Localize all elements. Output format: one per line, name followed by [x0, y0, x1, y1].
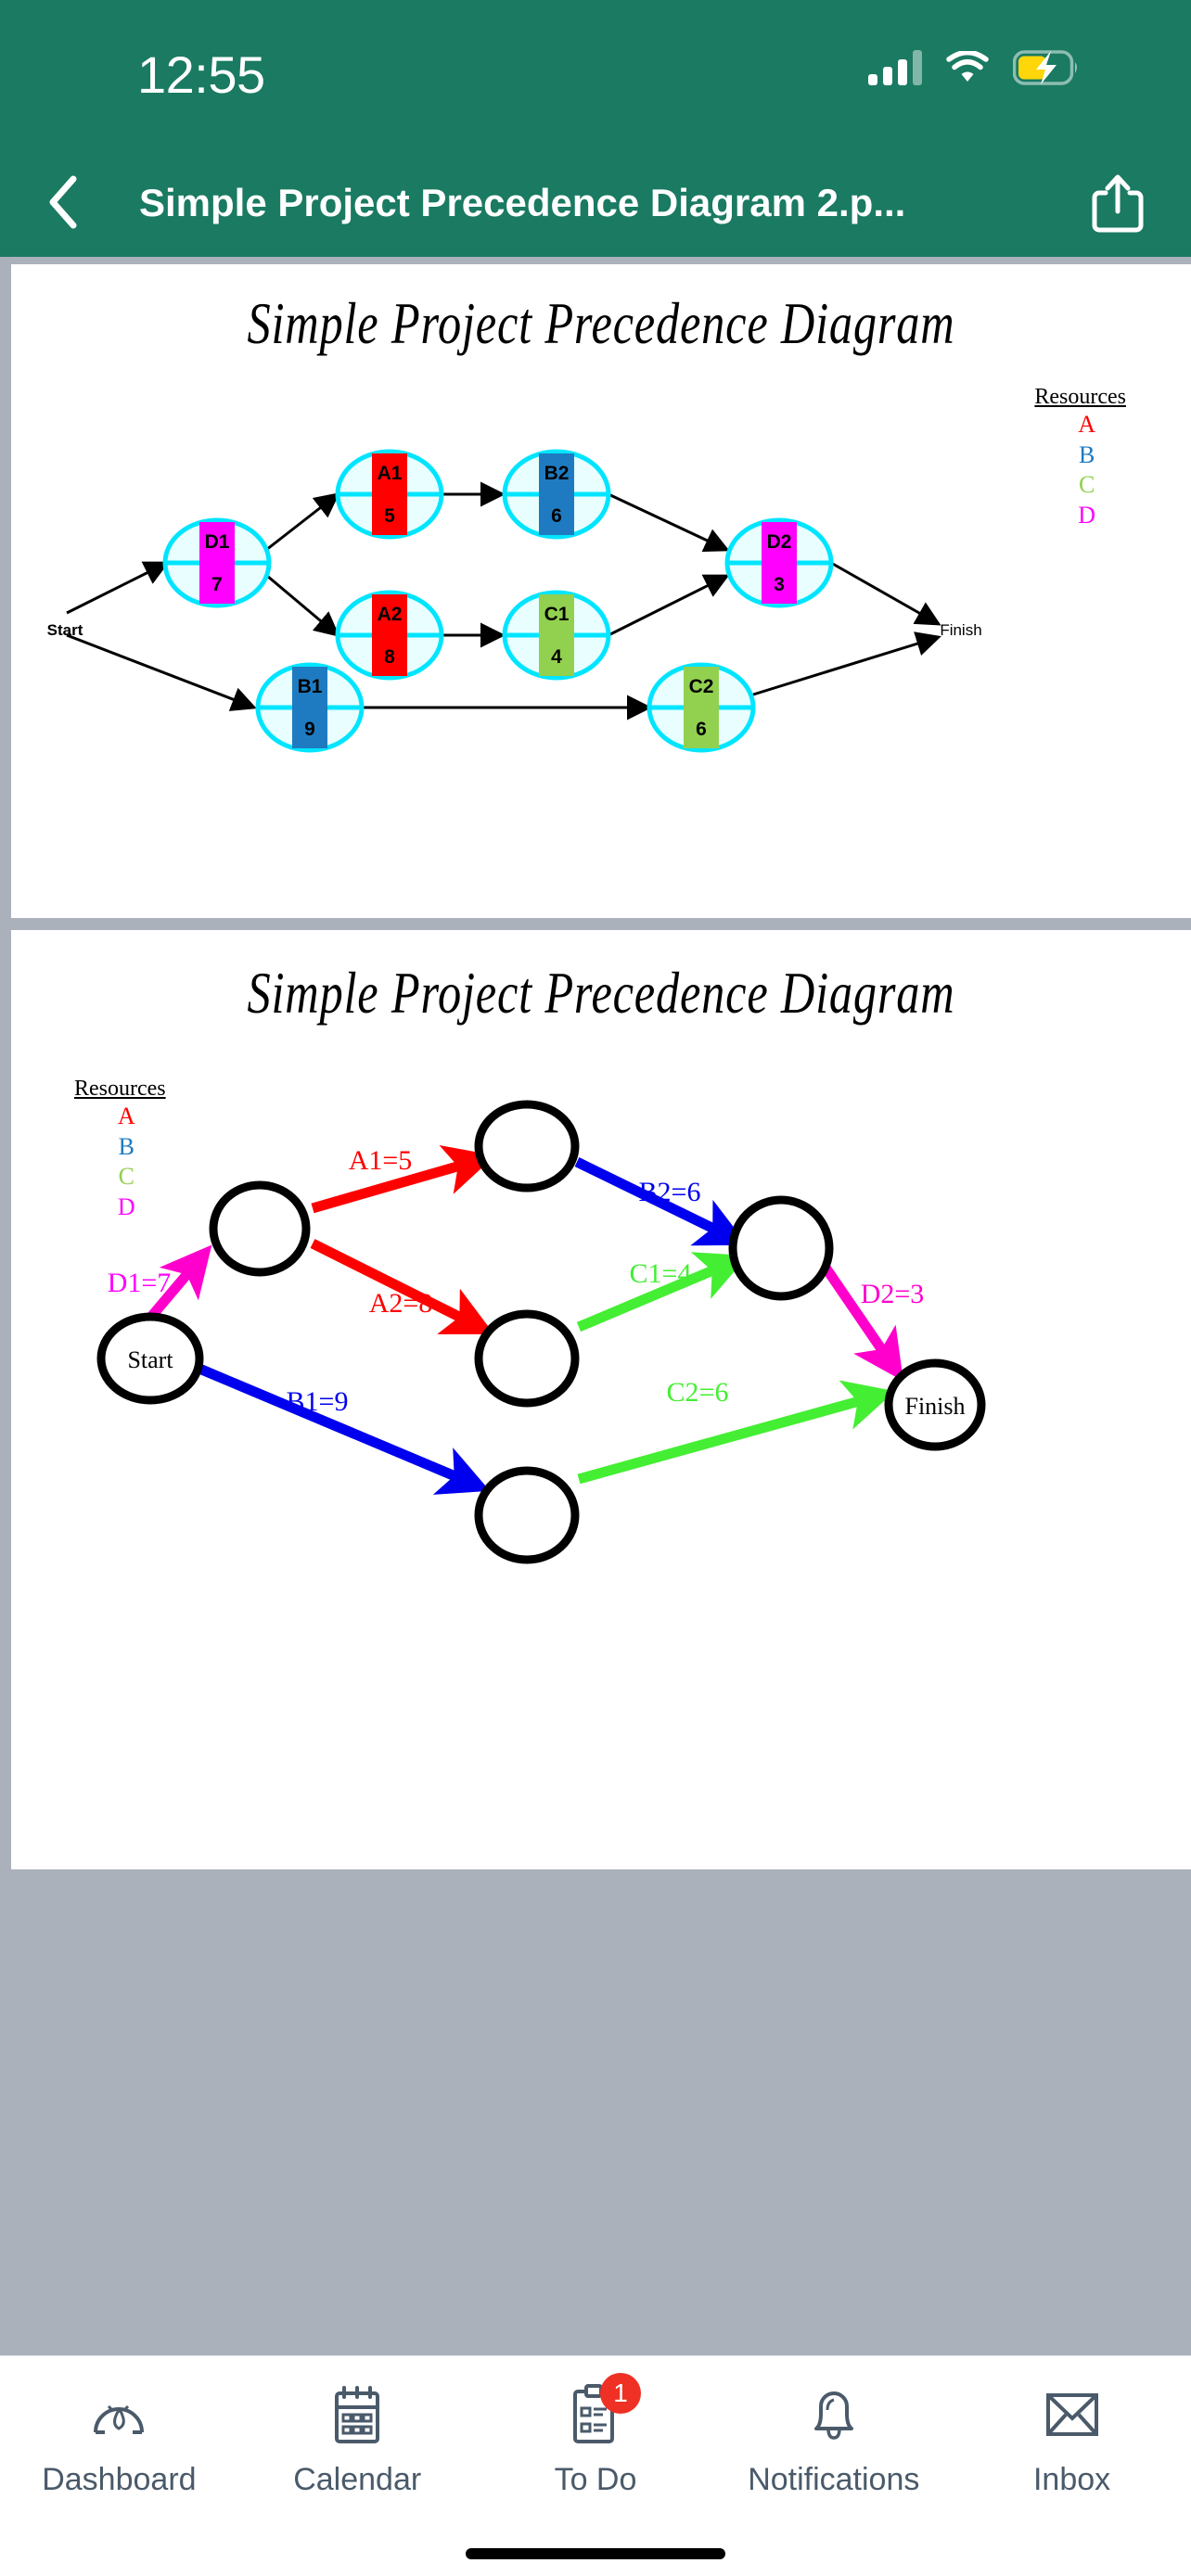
cellular-signal-icon [868, 50, 922, 85]
node-label: A1 [378, 463, 403, 484]
edge-label-d1: D1=7 [108, 1268, 172, 1298]
precedence-diagram-aoa: Start Finish D1=7 A1=5 A2=8 B2=6 C1=4 D2… [11, 930, 1191, 1869]
wifi-icon [946, 51, 989, 84]
tab-label: Calendar [293, 2462, 421, 2498]
edge-label-d2: D2=3 [861, 1279, 925, 1309]
node-label: C2 [689, 676, 714, 697]
tab-bar: Dashboard Calendar [0, 2355, 1191, 2576]
node-value: 7 [211, 574, 223, 595]
arrow-c2 [579, 1396, 879, 1479]
node-n2 [479, 1104, 575, 1188]
node-label: B1 [298, 676, 323, 697]
edge-label-c2: C2=6 [667, 1377, 729, 1408]
node-label: B2 [544, 463, 570, 484]
node-label: D2 [767, 531, 792, 553]
start-label: Start [47, 621, 83, 639]
clipboard-icon: 1 [563, 2380, 628, 2449]
edge-label-a2: A2=8 [369, 1288, 433, 1319]
node-value: 5 [384, 505, 395, 527]
todo-badge: 1 [600, 2373, 641, 2414]
node-value: 6 [551, 505, 562, 527]
node-n4 [733, 1200, 829, 1296]
nav-bar: Simple Project Precedence Diagram 2.p... [0, 148, 1191, 257]
gauge-icon [86, 2380, 151, 2449]
share-icon [1089, 172, 1146, 234]
node-label: D1 [205, 531, 230, 553]
node-value: 4 [551, 646, 562, 668]
node-b2[interactable]: B2 6 [505, 452, 608, 537]
edge-label-b2: B2=6 [639, 1177, 701, 1207]
edge-c2-finish [753, 637, 939, 695]
tab-calendar[interactable]: Calendar [238, 2380, 477, 2498]
edge-start-b1 [67, 635, 254, 708]
node-n5 [479, 1471, 575, 1560]
tab-label: Dashboard [42, 2462, 196, 2498]
document-page-2[interactable]: Simple Project Precedence Diagram Resour… [11, 930, 1191, 1869]
node-d1[interactable]: D1 7 [165, 520, 269, 606]
node-value: 6 [696, 719, 707, 740]
back-button[interactable] [33, 172, 93, 232]
precedence-diagram-aon: D1 7 A1 5 B2 6 [11, 264, 1191, 918]
node-label: C1 [544, 604, 570, 625]
start-label: Start [127, 1346, 173, 1373]
node-a1[interactable]: A1 5 [338, 452, 442, 537]
status-time: 12:55 [137, 45, 265, 105]
status-bar: 12:55 [0, 0, 1191, 148]
node-value: 3 [774, 574, 785, 595]
edge-b2-d2 [608, 494, 727, 550]
edge-label-b1: B1=9 [287, 1386, 349, 1417]
node-d2[interactable]: D2 3 [727, 520, 831, 606]
node-a2[interactable]: A2 8 [338, 593, 442, 678]
edge-d2-finish [831, 563, 939, 624]
tab-label: To Do [555, 2462, 637, 2498]
tab-dashboard[interactable]: Dashboard [0, 2380, 238, 2498]
app-root: 12:55 [0, 0, 1191, 2576]
node-value: 9 [304, 719, 315, 740]
bell-icon [801, 2380, 866, 2449]
tab-notifications[interactable]: Notifications [714, 2380, 953, 2498]
node-c1[interactable]: C1 4 [505, 593, 608, 678]
envelope-icon [1040, 2380, 1105, 2449]
edge-d1-a1 [266, 494, 338, 550]
document-scroll-area[interactable]: Simple Project Precedence Diagram Resour… [0, 257, 1191, 2355]
arrow-d2 [820, 1259, 894, 1368]
battery-charging-icon [1013, 50, 1080, 85]
edge-c1-d2 [608, 576, 727, 635]
tab-inbox[interactable]: Inbox [953, 2380, 1191, 2498]
event-nodes [101, 1104, 981, 1560]
node-n1 [213, 1185, 306, 1272]
edge-label-a1: A1=5 [349, 1145, 413, 1176]
chevron-left-icon [47, 175, 79, 229]
edge-d1-a2 [267, 576, 338, 635]
node-n3 [479, 1314, 575, 1403]
node-b1[interactable]: B1 9 [258, 665, 362, 750]
node-c2[interactable]: C2 6 [649, 665, 753, 750]
share-button[interactable] [1089, 172, 1146, 234]
tab-label: Inbox [1033, 2462, 1110, 2498]
calendar-icon [325, 2380, 390, 2449]
node-value: 8 [384, 646, 395, 668]
tab-todo[interactable]: 1 To Do [477, 2380, 715, 2498]
document-page-1[interactable]: Simple Project Precedence Diagram Resour… [11, 264, 1191, 918]
page-title: Simple Project Precedence Diagram 2.p... [139, 176, 1020, 230]
finish-label: Finish [904, 1393, 965, 1420]
arrow-b1 [193, 1366, 475, 1485]
tab-label: Notifications [748, 2462, 919, 2498]
finish-label: Finish [940, 621, 981, 639]
edge-start-d1 [67, 563, 167, 613]
edge-label-c1: C1=4 [630, 1258, 692, 1289]
status-icons [868, 50, 1080, 85]
node-label: A2 [378, 604, 403, 625]
home-indicator [466, 2548, 725, 2559]
